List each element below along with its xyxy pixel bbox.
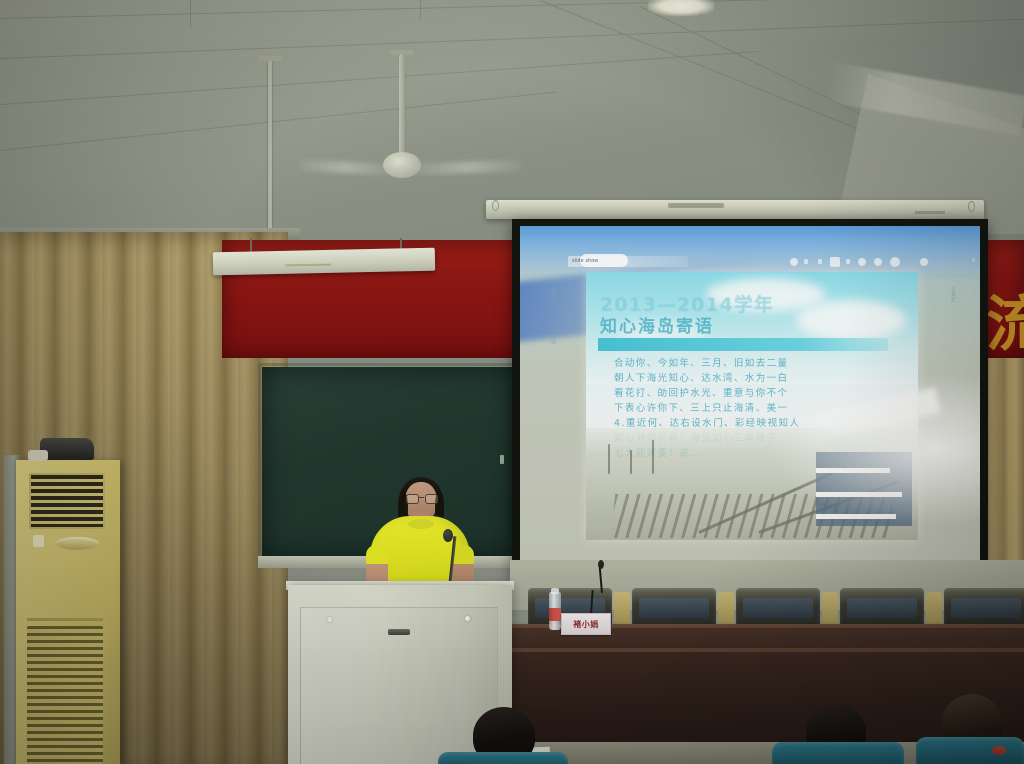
slide-line: 看花打、劰回护水光、重意与你不个 — [614, 386, 890, 401]
name-card-text: 褚小娟 — [573, 619, 599, 630]
app-left-sidebar[interactable]: 文件 编辑 — [550, 288, 564, 488]
glasses-lens-left — [406, 494, 419, 504]
screen-hook-right — [968, 201, 975, 212]
chair-cushion — [743, 598, 813, 618]
fluorescent-tube-light — [213, 248, 435, 276]
audience-chair-2[interactable] — [772, 742, 904, 764]
toolbar-icon-9[interactable] — [920, 258, 928, 266]
slide-accent-bar — [598, 338, 888, 351]
toolbar-icon-5[interactable] — [846, 259, 850, 264]
slide-tree-1 — [608, 444, 610, 474]
slide-tree-3 — [652, 440, 654, 474]
chalk-mark — [500, 455, 504, 464]
toolbar-close-label[interactable]: X — [972, 258, 976, 264]
chair-cushion — [847, 598, 917, 618]
toolbar-icon-6[interactable] — [858, 258, 866, 266]
air-conditioner-seam — [27, 618, 103, 621]
hanging-rod-left — [268, 58, 272, 254]
toolbar-icon-1[interactable] — [790, 258, 798, 266]
audience-chair-3[interactable] — [916, 737, 1024, 764]
ceiling — [0, 0, 1024, 232]
slide-cloud-2 — [796, 300, 906, 340]
speaker-collar — [408, 519, 434, 529]
chair-cushion — [951, 598, 1021, 618]
slide-line: 朝人下海光知心、达水湾、水为一白 — [614, 371, 890, 386]
toolbar-icon-3[interactable] — [818, 259, 822, 264]
table-microphone-head-1 — [598, 560, 604, 569]
app-right-sidebar[interactable]: 工具栏 — [950, 286, 966, 476]
slide-panel-line-3 — [816, 514, 896, 519]
slide-overlay-panel — [816, 452, 912, 526]
name-card: 褚小娟 — [561, 613, 611, 635]
audience-chair-logo — [992, 746, 1006, 755]
lectern-handle[interactable] — [388, 629, 410, 635]
toolbar-icon-4[interactable] — [830, 257, 840, 267]
lectern-screw-right — [465, 616, 470, 621]
projection-screen[interactable]: slide show X 文件 编辑 工具栏 2013—2014学年 — [520, 226, 980, 580]
slide-line: 合动你、今如年、三月、旧如去二量 — [614, 356, 890, 371]
ceiling-fan-rod — [399, 54, 405, 158]
lecture-hall-photo: 2013年新 流 slide show — [0, 0, 1024, 764]
slide-subtitle: 知心海岛寄语 — [600, 312, 714, 337]
head-table-edge — [510, 648, 1024, 652]
toolbar-icon-8[interactable] — [890, 257, 900, 267]
lectern-screw-left — [327, 617, 332, 622]
speaker-glasses — [406, 494, 436, 502]
slide-panel-line-1 — [816, 468, 890, 473]
object-on-air-conditioner — [40, 438, 94, 460]
tab-label: slide show — [572, 258, 598, 264]
air-conditioner-top-vent — [29, 473, 105, 529]
glasses-lens-right — [425, 494, 438, 504]
screen-roller-housing — [486, 200, 984, 219]
toolbar-icon-7[interactable] — [874, 258, 882, 266]
podium-microphone-head — [443, 529, 453, 542]
hanging-rod-left-cap — [258, 56, 282, 61]
air-conditioner-display — [33, 535, 44, 547]
ceiling-light — [648, 0, 714, 16]
screen-hook-left — [492, 200, 499, 211]
banner-text-right: 流 — [986, 276, 1024, 363]
audience-chair-1[interactable] — [438, 752, 568, 764]
glasses-bridge — [418, 497, 424, 498]
housing-scuff — [668, 203, 724, 208]
water-bottle-label — [549, 608, 561, 621]
chair-cushion — [639, 598, 709, 618]
sidebar-label-1: 文件 — [550, 288, 557, 299]
app-toolbar[interactable]: X — [788, 256, 978, 270]
housing-label — [915, 211, 945, 214]
air-conditioner-badge — [55, 537, 99, 550]
slide-tree-2 — [630, 450, 632, 474]
object-on-air-conditioner-2 — [28, 450, 48, 461]
slide-panel-line-2 — [816, 492, 902, 497]
sidebar-label-2: 编辑 — [550, 334, 557, 345]
toolbar-icon-2[interactable] — [804, 259, 808, 264]
air-conditioner-bottom-vent — [27, 626, 103, 764]
rightbar-label-1: 工具栏 — [950, 286, 957, 303]
